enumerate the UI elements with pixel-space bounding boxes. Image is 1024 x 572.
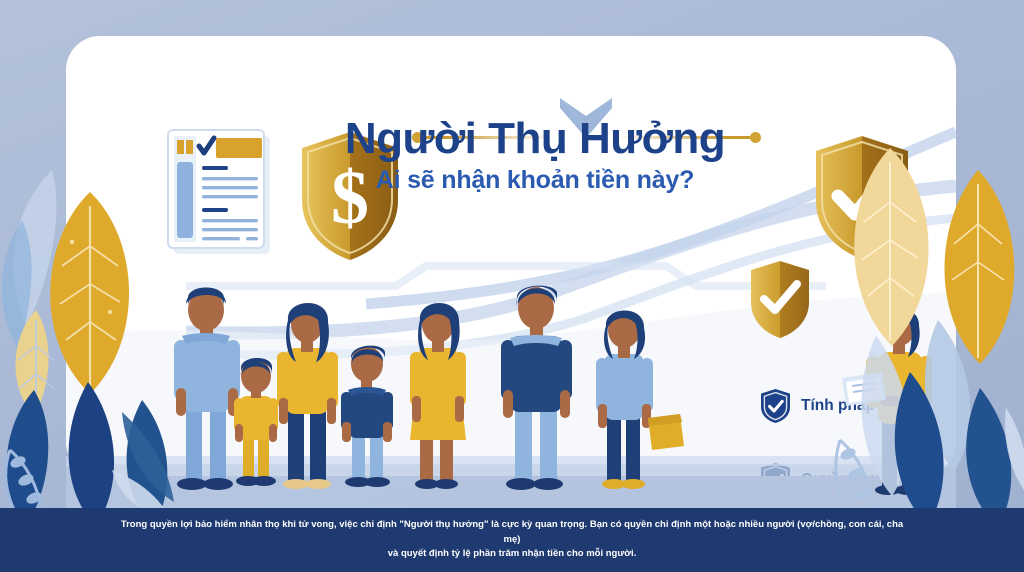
infographic-canvas: $	[0, 0, 1024, 572]
banner-text: Trong quyền lợi bảo hiểm nhân thọ khi tử…	[92, 518, 932, 562]
banner-line-2: và quyết định tỷ lệ phần trăm nhận tiền …	[112, 547, 912, 562]
page-title: Người Thụ Hưởng	[330, 116, 740, 162]
foliage-left-decoration	[0, 150, 202, 530]
title-block: Người Thụ Hưởng Ai sẽ nhận khoản tiền nà…	[330, 116, 740, 195]
gold-dot-right	[750, 132, 761, 143]
banner-line-1: Trong quyền lợi bảo hiểm nhân thọ khi tử…	[112, 518, 912, 547]
foliage-right-decoration	[830, 140, 1024, 530]
page-subtitle: Ai sẽ nhận khoản tiền này?	[330, 166, 740, 195]
bottom-banner: Trong quyền lợi bảo hiểm nhân thọ khi tử…	[0, 508, 1024, 572]
